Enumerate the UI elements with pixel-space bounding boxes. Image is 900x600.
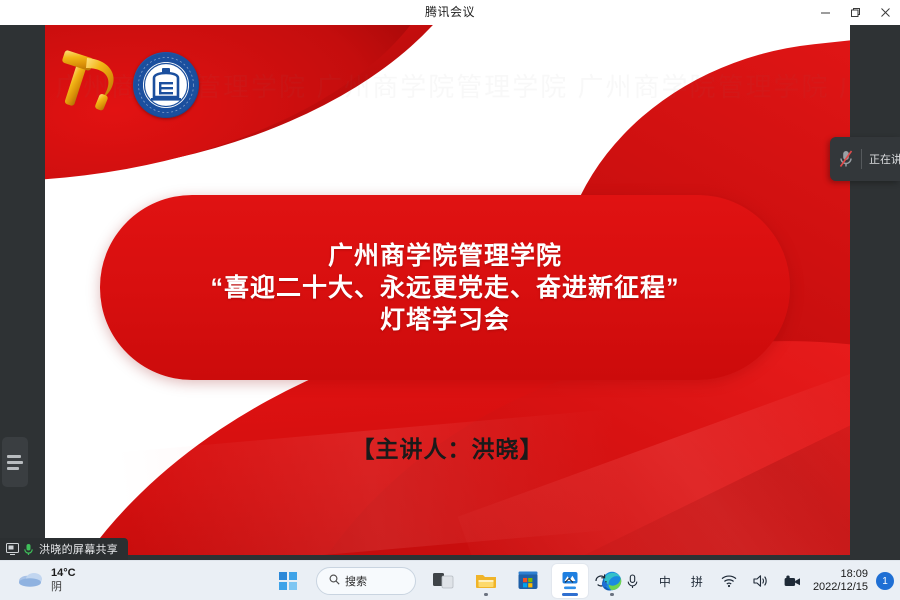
camera-icon[interactable] bbox=[777, 565, 809, 597]
participant-strip-label: 正在讲 bbox=[869, 151, 900, 167]
restore-icon[interactable] bbox=[840, 0, 870, 25]
task-view-icon[interactable] bbox=[426, 564, 462, 598]
strip-divider bbox=[861, 149, 862, 169]
microsoft-store-icon[interactable] bbox=[510, 564, 546, 598]
tencent-meeting-window: 广州商学院管理学院 广州商学院管理学院 广州商学院管理学院 广州商学院管理学院 … bbox=[0, 25, 900, 560]
ime-pinyin-indicator[interactable]: 拼 bbox=[681, 565, 713, 597]
close-icon[interactable] bbox=[870, 0, 900, 25]
slide-presenter-label: 【主讲人：洪晓】 bbox=[45, 430, 850, 464]
slide-title-card: 广州商学院管理学院 “喜迎二十大、永远更党走、奋进新征程” 灯塔学习会 bbox=[100, 195, 790, 380]
shared-screen-slide: 广州商学院管理学院 广州商学院管理学院 广州商学院管理学院 广州商学院管理学院 … bbox=[45, 25, 850, 555]
sync-icon[interactable] bbox=[585, 565, 617, 597]
clock[interactable]: 18:09 2022/12/15 bbox=[809, 568, 874, 594]
speaker-icon[interactable] bbox=[745, 565, 777, 597]
chevron-up-icon[interactable] bbox=[553, 565, 585, 597]
screen-share-label: 洪晓的屏幕共享 bbox=[39, 541, 118, 557]
task-running-indicator bbox=[484, 593, 488, 596]
list-panel-icon[interactable] bbox=[2, 437, 28, 487]
search-icon bbox=[329, 572, 340, 590]
window-title: 腾讯会议 bbox=[0, 0, 900, 25]
slide-title-line-2: “喜迎二十大、永远更党走、奋进新征程” bbox=[210, 272, 679, 304]
window-titlebar: 腾讯会议 bbox=[0, 0, 900, 25]
microphone-icon[interactable] bbox=[617, 565, 649, 597]
window-controls bbox=[810, 0, 900, 25]
system-tray: 中 拼 bbox=[553, 561, 894, 600]
search-label: 搜索 bbox=[345, 573, 367, 589]
mic-muted-icon[interactable] bbox=[838, 149, 854, 169]
slide-title-line-1: 广州商学院管理学院 bbox=[328, 240, 562, 272]
file-explorer-icon[interactable] bbox=[468, 564, 504, 598]
windows-start-icon[interactable] bbox=[270, 564, 306, 598]
screen: 腾讯会议 bbox=[0, 0, 900, 600]
minimize-icon[interactable] bbox=[810, 0, 840, 25]
wifi-icon[interactable] bbox=[713, 565, 745, 597]
clock-date: 2022/12/15 bbox=[813, 581, 868, 594]
screen-share-icon bbox=[6, 543, 19, 555]
cpc-party-emblem-icon bbox=[53, 38, 139, 124]
screen-share-badge[interactable]: 洪晓的屏幕共享 bbox=[0, 538, 128, 560]
microphone-icon bbox=[23, 543, 34, 556]
list-panel-glyph bbox=[7, 452, 23, 473]
search-input[interactable]: 搜索 bbox=[316, 567, 416, 595]
guangzhou-college-of-commerce-logo-icon bbox=[133, 52, 199, 118]
ime-mode-indicator[interactable]: 中 bbox=[649, 565, 681, 597]
slide-title-line-3: 灯塔学习会 bbox=[380, 304, 510, 336]
participant-strip[interactable]: 正在讲 bbox=[830, 137, 900, 181]
slide-emblems bbox=[53, 30, 223, 130]
clock-time: 18:09 bbox=[840, 568, 868, 581]
notification-badge[interactable]: 1 bbox=[876, 572, 894, 590]
windows-taskbar: 14°C 阴 搜索 bbox=[0, 560, 900, 600]
